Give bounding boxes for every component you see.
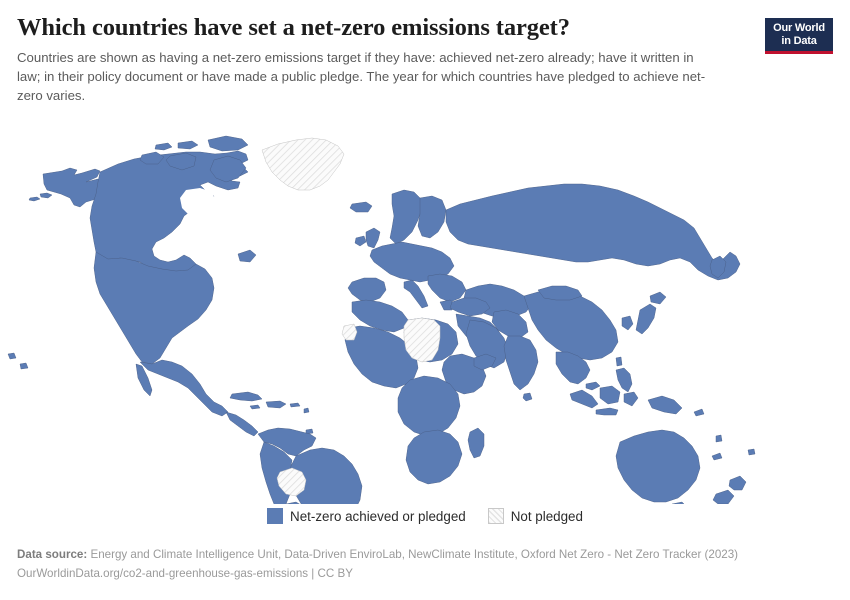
country-china[interactable] [524,290,618,360]
region-central-africa[interactable] [398,376,460,436]
footer-source-line: Data source: Energy and Climate Intellig… [17,546,833,565]
country-indonesia-sumatra[interactable] [570,390,598,408]
legend-item-pledged[interactable]: Net-zero achieved or pledged [267,508,466,524]
island-solomon[interactable] [694,409,704,416]
region-balkans[interactable] [428,274,466,302]
country-united-states[interactable] [94,252,214,364]
legend-swatch-pledged [267,508,283,524]
island-lesser-antilles-1[interactable] [304,408,309,413]
our-world-in-data-logo[interactable]: Our World in Data [765,18,833,54]
country-scandinavia[interactable] [390,190,422,244]
country-japan[interactable] [636,304,656,334]
island-fiji[interactable] [748,449,755,455]
country-iceland[interactable] [350,202,372,212]
legend-item-not-pledged[interactable]: Not pledged [488,508,583,524]
page-title: Which countries have set a net-zero emis… [17,14,757,42]
country-spain-portugal[interactable] [348,278,386,302]
island-hawaii[interactable] [8,353,16,359]
country-new-zealand-north[interactable] [729,476,746,490]
island-new-caledonia[interactable] [712,453,722,460]
footer-source-text: Energy and Climate Intelligence Unit, Da… [87,548,738,561]
region-southern-africa[interactable] [406,430,462,484]
chart-header: Which countries have set a net-zero emis… [17,14,757,105]
footer-source-label: Data source: [17,548,87,561]
country-australia[interactable] [616,430,700,502]
chart-footer: Data source: Energy and Climate Intellig… [17,546,833,584]
country-korea[interactable] [622,316,633,330]
country-taiwan[interactable] [616,357,622,366]
logo-line-2: in Data [770,35,828,48]
country-madagascar[interactable] [468,428,484,458]
island-aleutians-2[interactable] [29,197,40,201]
owid-chart-page: Which countries have set a net-zero emis… [0,0,850,600]
country-russia[interactable] [446,184,740,280]
legend-label-not-pledged: Not pledged [511,509,583,524]
country-mexico[interactable] [140,360,228,416]
map-countries-pledged [8,136,755,504]
country-japan-north[interactable] [650,292,666,304]
country-india[interactable] [504,336,538,390]
country-ireland[interactable] [355,236,366,246]
legend-label-pledged: Net-zero achieved or pledged [290,509,466,524]
island-ellesmere[interactable] [208,136,248,151]
country-malaysia[interactable] [586,382,600,390]
island-vanuatu[interactable] [716,435,722,442]
world-map-svg[interactable] [0,112,850,504]
country-italy[interactable] [404,280,428,308]
island-pacific-small[interactable] [20,363,28,369]
country-greenland[interactable] [262,138,344,190]
logo-line-1: Our World [770,22,828,35]
island-arctic-small-2[interactable] [155,143,172,150]
island-jamaica[interactable] [250,405,260,409]
country-western-sahara[interactable] [342,324,357,340]
country-philippines[interactable] [616,368,632,392]
country-finland-baltics[interactable] [418,196,446,238]
island-arctic-small-1[interactable] [178,141,198,149]
country-papua-new-guinea[interactable] [648,396,682,414]
country-indonesia-borneo[interactable] [600,386,620,404]
map-legend: Net-zero achieved or pledged Not pledged [0,508,850,524]
country-central-america[interactable] [226,412,258,436]
island-aleutians-1[interactable] [40,193,52,198]
island-cuba[interactable] [230,392,262,401]
country-indonesia-java[interactable] [596,408,618,415]
country-mongolia[interactable] [538,286,582,300]
country-tasmania[interactable] [671,502,686,504]
island-puerto-rico[interactable] [290,403,300,407]
country-sri-lanka[interactable] [523,393,532,401]
footer-url-line[interactable]: OurWorldinData.org/co2-and-greenhouse-ga… [17,565,833,584]
legend-swatch-not-pledged [488,508,504,524]
island-hispaniola[interactable] [266,401,286,408]
chart-subtitle: Countries are shown as having a net-zero… [17,49,717,105]
country-indonesia-sulawesi[interactable] [624,392,638,406]
island-newfoundland[interactable] [238,250,256,262]
world-map[interactable] [0,112,850,504]
country-united-kingdom[interactable] [366,228,380,248]
country-new-zealand-south[interactable] [713,490,734,504]
